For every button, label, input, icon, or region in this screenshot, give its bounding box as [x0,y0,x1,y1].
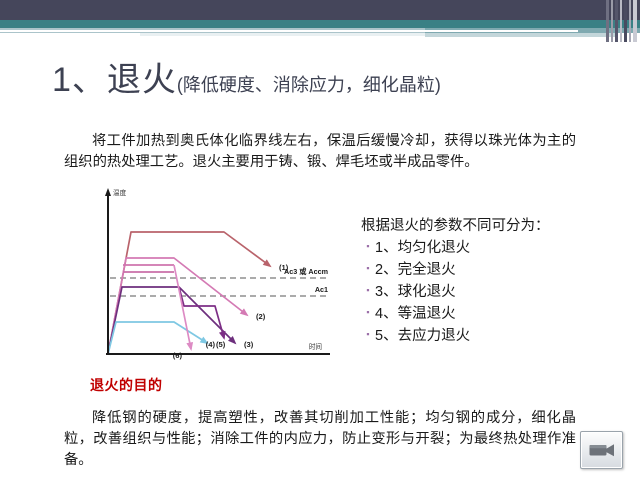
chart-x-axis-title: 时间 [309,342,323,351]
bullet-icon: ▪ [361,302,375,323]
classification-item-4[interactable]: ▪4、等温退火 [361,304,601,326]
video-camera-icon [589,442,615,458]
bullet-icon: ▪ [361,258,375,279]
classification-list: ▪1、均匀化退火▪2、完全退火▪3、球化退火▪4、等温退火▪5、去应力退火 [361,238,601,348]
chart-arrow-(6) [186,342,193,351]
header-stripe-0 [606,0,609,42]
intro-paragraph: 将工件加热到奥氏体化临界线左右，保温后缓慢冷却，获得以珠光体为主的组织的热处理工… [64,131,576,173]
classification-block: 根据退火的参数不同可分为： ▪1、均匀化退火▪2、完全退火▪3、球化退火▪4、等… [361,216,601,348]
classification-item-label: 2、完全退火 [375,260,456,281]
chart-series-label-(2): (2) [256,312,266,321]
classification-heading: 根据退火的参数不同可分为： [361,216,601,236]
reference-line-label-1: Ac1 [315,285,328,294]
chart-series-label-(3): (3) [244,340,254,349]
chart-series-group [108,232,272,354]
header-stripe-1 [611,0,613,42]
header-stripe-2 [615,0,618,42]
chart-series-label-(4): (4) [206,340,216,349]
classification-item-label: 1、均匀化退火 [375,238,470,259]
header-stripe-5 [629,0,631,42]
header-stripe-6 [633,0,637,42]
page-title-main: 1、退火 [52,61,177,99]
header-band-white [0,30,578,32]
header-band-accent-right-2 [425,33,615,37]
chart-y-axis-arrow [105,188,111,196]
header-stripe-3 [620,0,622,42]
bullet-icon: ▪ [361,324,375,345]
classification-item-1[interactable]: ▪1、均匀化退火 [361,238,601,260]
header-decoration [0,0,640,42]
classification-item-label: 5、去应力退火 [375,326,470,347]
chart-series-label-(5): (5) [216,340,226,349]
classification-item-3[interactable]: ▪3、球化退火 [361,282,601,304]
purpose-heading: 退火的目的 [90,375,163,395]
annealing-process-chart: Ac3 或 AccmAc1 (1)(2)(3)(4)(5)(6)温度时间 [84,183,336,366]
page-title-subtitle: (降低硬度、消除应力，细化晶粒) [177,75,441,95]
bullet-icon: ▪ [361,280,375,301]
reference-line-label-0: Ac3 或 Accm [284,267,328,276]
header-band-accent-left-fade [140,33,425,36]
classification-item-2[interactable]: ▪2、完全退火 [361,260,601,282]
chart-line-(5) [108,322,207,354]
chart-y-axis-title: 温度 [113,188,127,197]
header-stripe-4 [624,0,627,42]
classification-item-label: 3、球化退火 [375,282,456,303]
chart-svg: Ac3 或 AccmAc1 (1)(2)(3)(4)(5)(6)温度时间 [84,183,336,366]
classification-item-5[interactable]: ▪5、去应力退火 [361,326,601,348]
chart-series-label-(6): (6) [173,351,183,360]
header-band-dark [0,0,640,20]
purpose-paragraph: 降低钢的硬度，提高塑性，改善其切削加工性能；均匀钢的成分，细化晶粒，改善组织与性… [64,408,576,471]
page-title: 1、退火(降低硬度、消除应力，细化晶粒) [52,52,612,101]
chart-arrow-(4) [219,331,226,340]
chart-series-label-(1): (1) [279,263,289,272]
video-play-button[interactable] [580,431,623,469]
header-band-teal [0,20,640,28]
bullet-icon: ▪ [361,236,375,257]
classification-item-label: 4、等温退火 [375,304,456,325]
